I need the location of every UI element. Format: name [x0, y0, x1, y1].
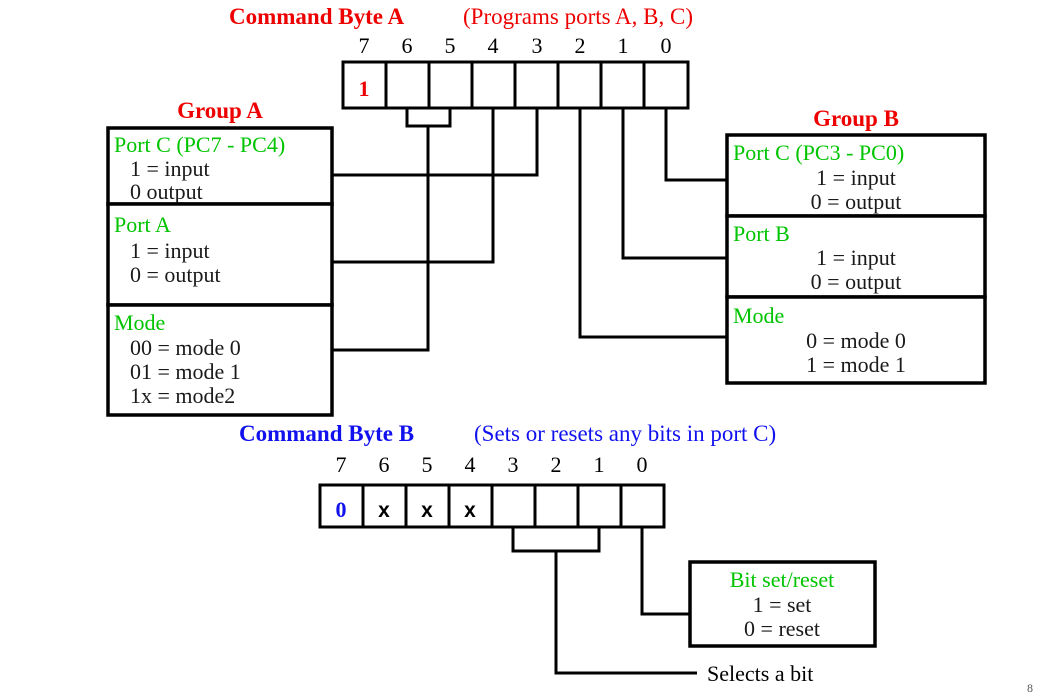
- byte-b-bit-label-5: 5: [422, 452, 433, 477]
- byte-a-value-7: 1: [359, 76, 370, 101]
- group-b-portb-line-2: 0 = output: [811, 269, 902, 294]
- bit-set-reset-box-group: Bit set/reset 1 = set 0 = reset: [690, 562, 875, 646]
- group-b-portc-line-1: 1 = input: [816, 165, 896, 190]
- group-b-boxes: Port C (PC3 - PC0) 1 = input 0 = output …: [727, 135, 985, 383]
- byte-b-cell-0[interactable]: [621, 485, 664, 527]
- group-b-mode-heading: Mode: [733, 303, 784, 328]
- command-byte-a-wires: [332, 108, 727, 350]
- bit-label-6: 6: [402, 33, 413, 58]
- group-b-portb-heading: Port B: [733, 221, 790, 246]
- byte-b-bit-label-4: 4: [465, 452, 476, 477]
- group-a-mode-line-3: 1x = mode2: [130, 383, 235, 408]
- group-a-portc-line-1: 1 = input: [130, 156, 210, 181]
- page-number: 8: [1027, 681, 1033, 695]
- bit-set-reset-heading: Bit set/reset: [730, 567, 834, 592]
- command-byte-a-cells: 1: [343, 62, 688, 108]
- bit-label-4: 4: [488, 33, 499, 58]
- byte-b-bit-label-3: 3: [508, 452, 519, 477]
- byte-b-bit-label-7: 7: [336, 452, 347, 477]
- group-a-portc-heading: Port C (PC7 - PC4): [114, 132, 285, 157]
- bit-set-reset-line-1: 1 = set: [753, 592, 812, 617]
- byte-b-cell-2[interactable]: [535, 485, 578, 527]
- command-byte-b-subtitle: (Sets or resets any bits in port C): [474, 421, 776, 446]
- command-byte-a-bit-labels: 7 6 5 4 3 2 1 0: [359, 33, 672, 58]
- group-b-portc-line-2: 0 = output: [811, 189, 902, 214]
- command-byte-b-wires: [513, 527, 697, 673]
- bit-label-3: 3: [532, 33, 543, 58]
- byte-a-cell-2[interactable]: [558, 62, 601, 108]
- byte-a-cell-5[interactable]: [429, 62, 472, 108]
- group-a-label: Group A: [177, 98, 263, 123]
- command-byte-a-subtitle: (Programs ports A, B, C): [463, 4, 693, 29]
- bit-set-reset-line-2: 0 = reset: [744, 616, 820, 641]
- byte-b-cell-3[interactable]: [492, 485, 535, 527]
- byte-b-bit-label-6: 6: [379, 452, 390, 477]
- bit-label-1: 1: [618, 33, 629, 58]
- command-byte-b-bit-labels: 7 6 5 4 3 2 1 0: [336, 452, 648, 477]
- byte-a-cell-6[interactable]: [386, 62, 429, 108]
- bit-label-7: 7: [359, 33, 370, 58]
- io-command-byte-diagram: Command Byte A (Programs ports A, B, C) …: [0, 0, 1045, 696]
- group-b-portb-line-1: 1 = input: [816, 245, 896, 270]
- bit-label-2: 2: [575, 33, 586, 58]
- group-b-mode-line-2: 1 = mode 1: [806, 352, 906, 377]
- group-a-porta-heading: Port A: [114, 212, 171, 237]
- command-byte-a-title: Command Byte A: [229, 4, 404, 29]
- byte-a-cell-0[interactable]: [644, 62, 688, 108]
- group-b-portc-heading: Port C (PC3 - PC0): [733, 140, 904, 165]
- command-byte-b-cells: 0 x x x: [320, 485, 664, 527]
- byte-a-cell-1[interactable]: [601, 62, 644, 108]
- group-a-porta-line-1: 1 = input: [130, 238, 210, 263]
- group-a-mode-line-1: 00 = mode 0: [130, 335, 241, 360]
- bit-label-0: 0: [661, 33, 672, 58]
- group-a-portc-line-2: 0 output: [130, 179, 203, 204]
- byte-b-bit-label-0: 0: [637, 452, 648, 477]
- group-a-porta-line-2: 0 = output: [130, 262, 221, 287]
- byte-a-cell-4[interactable]: [472, 62, 515, 108]
- byte-b-value-6: x: [378, 499, 390, 522]
- group-b-mode-line-1: 0 = mode 0: [806, 328, 906, 353]
- bit-label-5: 5: [445, 33, 456, 58]
- group-b-label: Group B: [813, 106, 899, 131]
- byte-b-value-7: 0: [336, 497, 347, 522]
- group-a-boxes: Port C (PC7 - PC4) 1 = input 0 output Po…: [108, 128, 332, 415]
- selects-a-bit-label: Selects a bit: [707, 661, 813, 686]
- byte-b-value-5: x: [421, 499, 433, 522]
- group-a-mode-heading: Mode: [114, 310, 165, 335]
- group-a-mode-line-2: 01 = mode 1: [130, 359, 241, 384]
- byte-b-cell-1[interactable]: [578, 485, 621, 527]
- byte-b-bit-label-1: 1: [594, 452, 605, 477]
- byte-b-bit-label-2: 2: [551, 452, 562, 477]
- byte-b-value-4: x: [464, 499, 476, 522]
- byte-a-cell-3[interactable]: [515, 62, 558, 108]
- command-byte-b-title: Command Byte B: [239, 421, 414, 446]
